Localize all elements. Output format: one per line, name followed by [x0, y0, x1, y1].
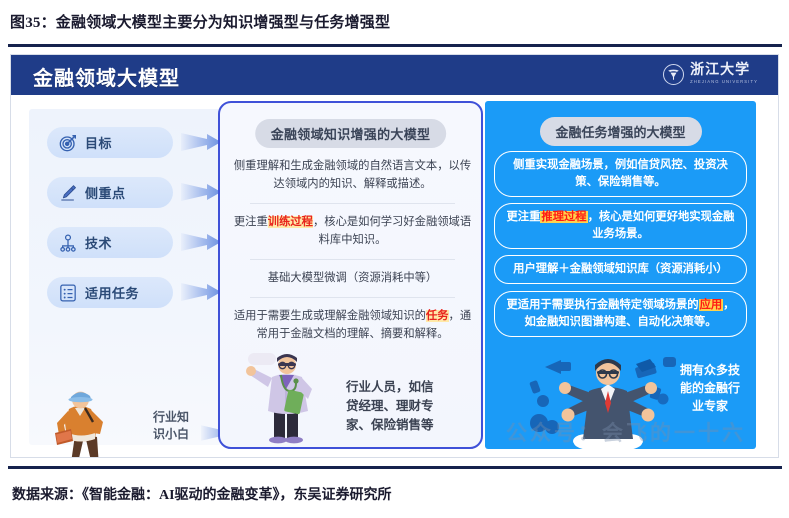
- zju-name-en: ZHEJIANG UNIVERSITY: [690, 80, 758, 84]
- professional-person-illustration: [226, 349, 346, 445]
- panel-box-focus: 更注重推理过程，核心是如何更好地实现金融业务场景。: [494, 203, 747, 249]
- knowledge-enhanced-panel: 金融领域知识增强的大模型 侧重理解和生成金融领域的自然语言文本，以传达领域内的知…: [218, 101, 483, 449]
- panel-row-goal: 侧重理解和生成金融领域的自然语言文本，以传达领域内的知识、解释或描述。: [230, 157, 475, 193]
- bottom-rule: [8, 466, 782, 469]
- aspect-chip-goal[interactable]: 目标: [47, 127, 173, 158]
- aspect-chip-focus[interactable]: 侧重点: [47, 177, 173, 208]
- aspect-chip-label: 目标: [85, 133, 112, 152]
- professional-persona-label: 行业人员，如信 贷经理、理财专 家、保险销售等: [346, 378, 474, 435]
- aspect-chip-technology[interactable]: 技术: [47, 227, 173, 258]
- divider: [250, 297, 455, 298]
- zju-name-cn: 浙江大学: [690, 64, 758, 78]
- multi-arm-expert-illustration: [523, 351, 693, 449]
- zju-logo-text: 浙江大学 ZHEJIANG UNIVERSITY: [690, 64, 758, 84]
- panel-box-technology: 用户理解＋金融领域知识库（资源消耗小）: [494, 255, 747, 284]
- aspect-chip-label: 适用任务: [85, 283, 139, 302]
- network-people-icon: [58, 233, 78, 253]
- slide-card: 金融领域大模型 浙江大学 ZHEJIANG UNIVERSITY: [10, 54, 779, 458]
- panel-row-focus: 更注重训练过程，核心是如何学习好金融领域语料库中知识。: [230, 213, 475, 249]
- top-rule: [8, 44, 782, 47]
- checklist-icon: [58, 283, 78, 303]
- aspect-chip-label: 侧重点: [85, 183, 126, 202]
- panel-box-applications: 更适用于需要执行金融特定领域场景的应用，如金融知识图谱构建、自动化决策等。: [494, 291, 747, 337]
- novice-persona: 行业知 识小白: [35, 403, 221, 458]
- zju-crest-icon: [663, 64, 684, 85]
- arrow-right-icon: [181, 281, 223, 303]
- target-icon: [58, 133, 78, 153]
- slide-header: 金融领域大模型 浙江大学 ZHEJIANG UNIVERSITY: [11, 55, 779, 95]
- panel-row-tasks: 适用于需要生成或理解金融领域知识的任务，通常用于金融文档的理解、摘要和解释。: [230, 307, 475, 343]
- expert-persona-label: 拥有众多技 能的金融行 业专家: [674, 361, 746, 415]
- panel-box-goal: 侧重实现金融场景，例如信贷风控、投资决策、保险销售等。: [494, 151, 747, 197]
- aspect-chip-label: 技术: [85, 233, 112, 252]
- pen-icon: [58, 183, 78, 203]
- left-aspect-column: 目标 侧重点: [29, 109, 221, 445]
- task-enhanced-panel: 金融任务增强的大模型 侧重实现金融场景，例如信贷风控、投资决策、保险销售等。 更…: [485, 101, 756, 449]
- source-note: 数据来源：《智能金融：AI驱动的金融变革》，东吴证券研究所: [12, 484, 392, 504]
- arrow-right-icon: [181, 181, 223, 203]
- panel-title: 金融领域知识增强的大模型: [255, 119, 447, 148]
- aspect-chip-tasks[interactable]: 适用任务: [47, 277, 173, 308]
- zhejiang-university-logo: 浙江大学 ZHEJIANG UNIVERSITY: [663, 64, 758, 85]
- figure-caption: 图35：金融领域大模型主要分为知识增强型与任务增强型: [10, 8, 780, 38]
- novice-person-illustration: [35, 389, 123, 459]
- arrow-right-icon: [181, 231, 223, 253]
- figure-page: 图35：金融领域大模型主要分为知识增强型与任务增强型 金融领域大模型 浙江大学 …: [0, 0, 789, 518]
- panel-title: 金融任务增强的大模型: [539, 117, 701, 146]
- divider: [250, 259, 455, 260]
- slide-body: 目标 侧重点: [11, 95, 779, 458]
- arrow-right-icon: [181, 131, 223, 153]
- slide-title: 金融领域大模型: [33, 62, 180, 91]
- panel-row-technology: 基础大模型微调（资源消耗中等）: [230, 269, 475, 287]
- novice-persona-label: 行业知 识小白: [153, 409, 205, 443]
- divider: [250, 203, 455, 204]
